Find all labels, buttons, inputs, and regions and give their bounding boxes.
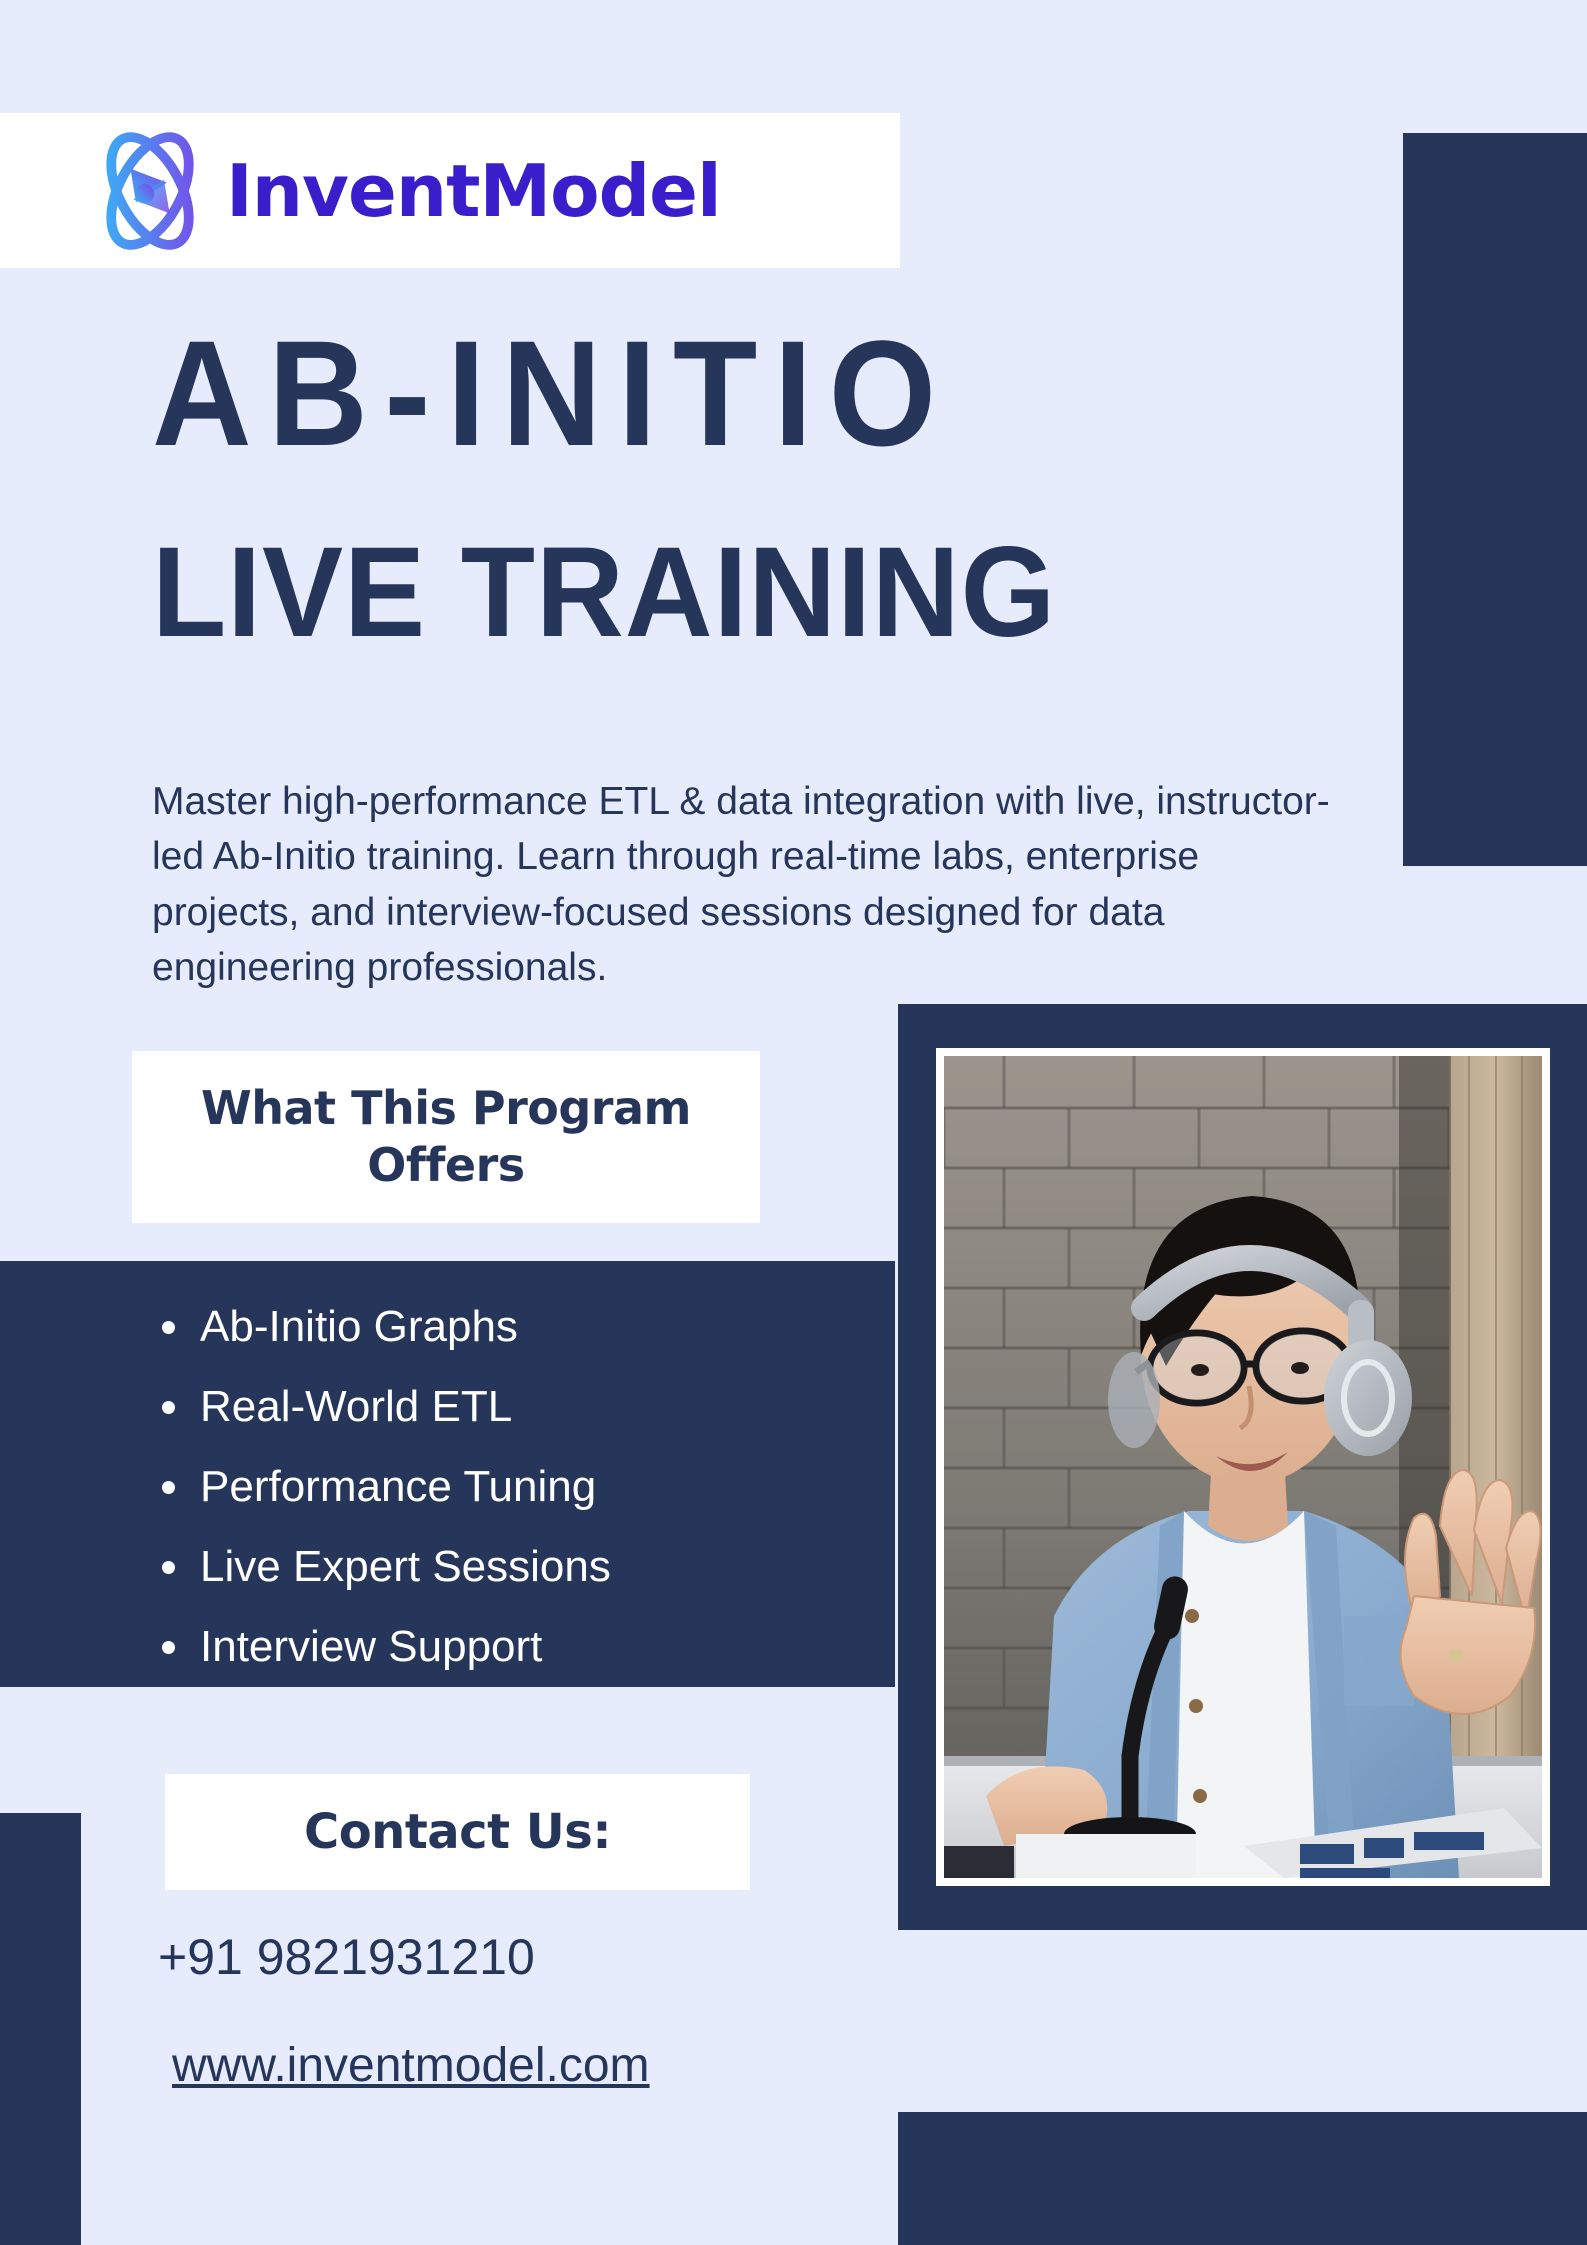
contact-phone-number[interactable]: +91 9821931210 — [158, 1928, 535, 1986]
offers-list-band: Ab-Initio Graphs Real-World ETL Performa… — [0, 1261, 895, 1687]
list-item: Live Expert Sessions — [200, 1545, 895, 1589]
contact-heading-box: Contact Us: — [165, 1774, 750, 1890]
page-title-primary: AB-INITIO — [152, 320, 1247, 467]
list-item: Ab-Initio Graphs — [200, 1305, 895, 1349]
poster-canvas: InventModel AB-INITIO LIVE TRAINING Mast… — [0, 0, 1587, 2245]
contact-heading-text: Contact Us: — [304, 1804, 611, 1860]
decorative-block-bottom-right — [898, 2112, 1587, 2245]
brand-wordmark: InventModel — [226, 155, 721, 227]
decorative-block-bottom-left — [0, 1813, 81, 2245]
list-item: Performance Tuning — [200, 1465, 895, 1509]
decorative-block-top-right — [1403, 133, 1587, 866]
brand-logo-bar: InventModel — [0, 113, 900, 268]
list-item: Interview Support — [200, 1625, 895, 1669]
contact-website-link[interactable]: www.inventmodel.com — [172, 2038, 650, 2093]
offers-heading-text: What This Program Offers — [186, 1080, 706, 1195]
headline-group: AB-INITIO LIVE TRAINING — [152, 320, 1342, 657]
list-item: Real-World ETL — [200, 1385, 895, 1429]
offers-list: Ab-Initio Graphs Real-World ETL Performa… — [0, 1261, 895, 1669]
intro-paragraph: Master high-performance ETL & data integ… — [152, 774, 1342, 996]
page-title-secondary: LIVE TRAINING — [152, 529, 1283, 657]
atom-orbit-icon — [80, 121, 220, 261]
offers-heading-box: What This Program Offers — [132, 1051, 760, 1223]
speaker-photo — [944, 1056, 1542, 1878]
photo-frame — [936, 1048, 1550, 1886]
